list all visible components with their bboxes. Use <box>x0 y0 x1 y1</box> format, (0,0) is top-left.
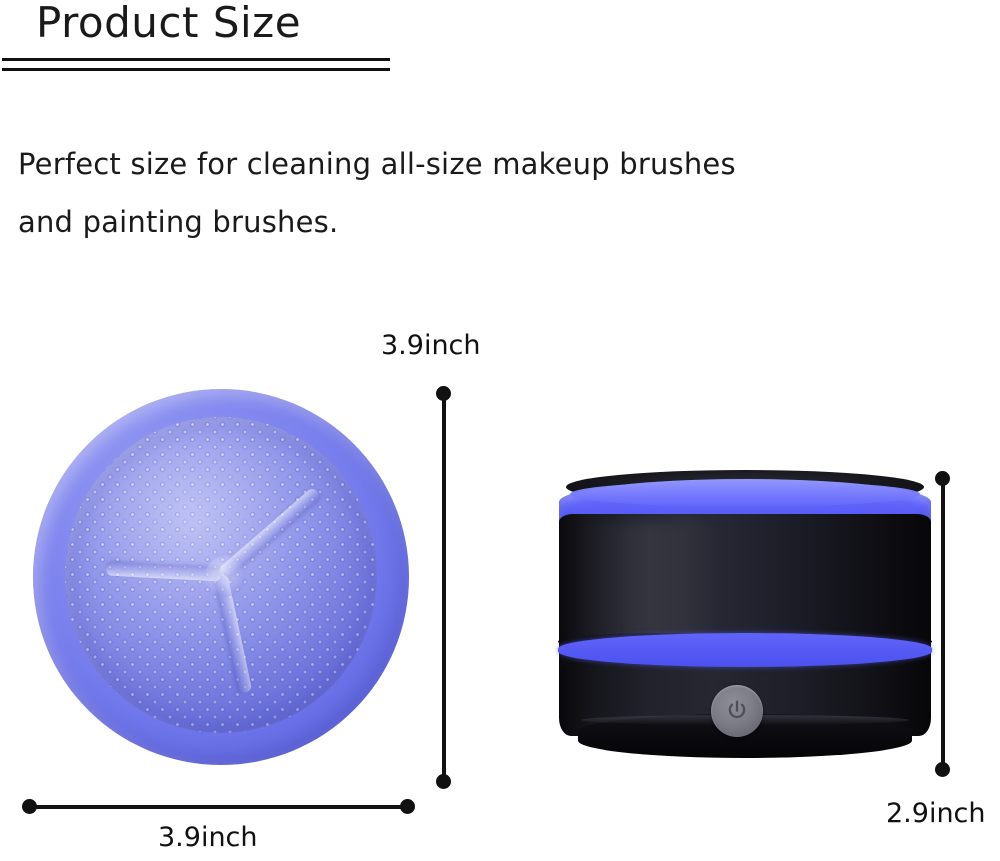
description-line-2: and painting brushes. <box>18 193 818 251</box>
dimension-endpoint-dot <box>400 799 415 814</box>
dimension-label-left-width: 3.9inch <box>158 822 258 853</box>
dimension-endpoint-dot <box>22 799 37 814</box>
product-size-infographic: Product Size Perfect size for cleaning a… <box>0 0 1000 861</box>
electric-brush-cleaner-image <box>559 470 931 760</box>
dimension-label-right-height: 2.9inch <box>886 798 986 829</box>
dimension-line-left-height <box>442 392 446 782</box>
device-body-sheen <box>574 522 723 642</box>
power-button[interactable] <box>711 685 763 737</box>
dimension-line-left-width <box>28 805 414 809</box>
bowl-inner-basin <box>65 417 377 733</box>
dimension-endpoint-dot <box>436 386 451 401</box>
dimension-endpoint-dot <box>935 762 950 777</box>
title-divider <box>2 58 390 71</box>
dimension-label-left-height: 3.9inch <box>381 330 481 361</box>
description-line-1: Perfect size for cleaning all-size makeu… <box>18 135 818 193</box>
divider-rule-bottom <box>2 68 390 71</box>
bowl-shading-overlay <box>65 417 377 733</box>
dimension-endpoint-dot <box>436 774 451 789</box>
device-accent-band <box>558 633 932 667</box>
silicone-cleaning-bowl-image <box>33 389 409 765</box>
divider-rule-top <box>2 58 390 61</box>
description-text: Perfect size for cleaning all-size makeu… <box>18 135 818 251</box>
device-rim-highlight <box>570 481 920 507</box>
dimension-endpoint-dot <box>935 471 950 486</box>
page-title: Product Size <box>36 0 301 47</box>
dimension-line-right-height <box>941 478 945 770</box>
power-icon <box>724 698 750 724</box>
